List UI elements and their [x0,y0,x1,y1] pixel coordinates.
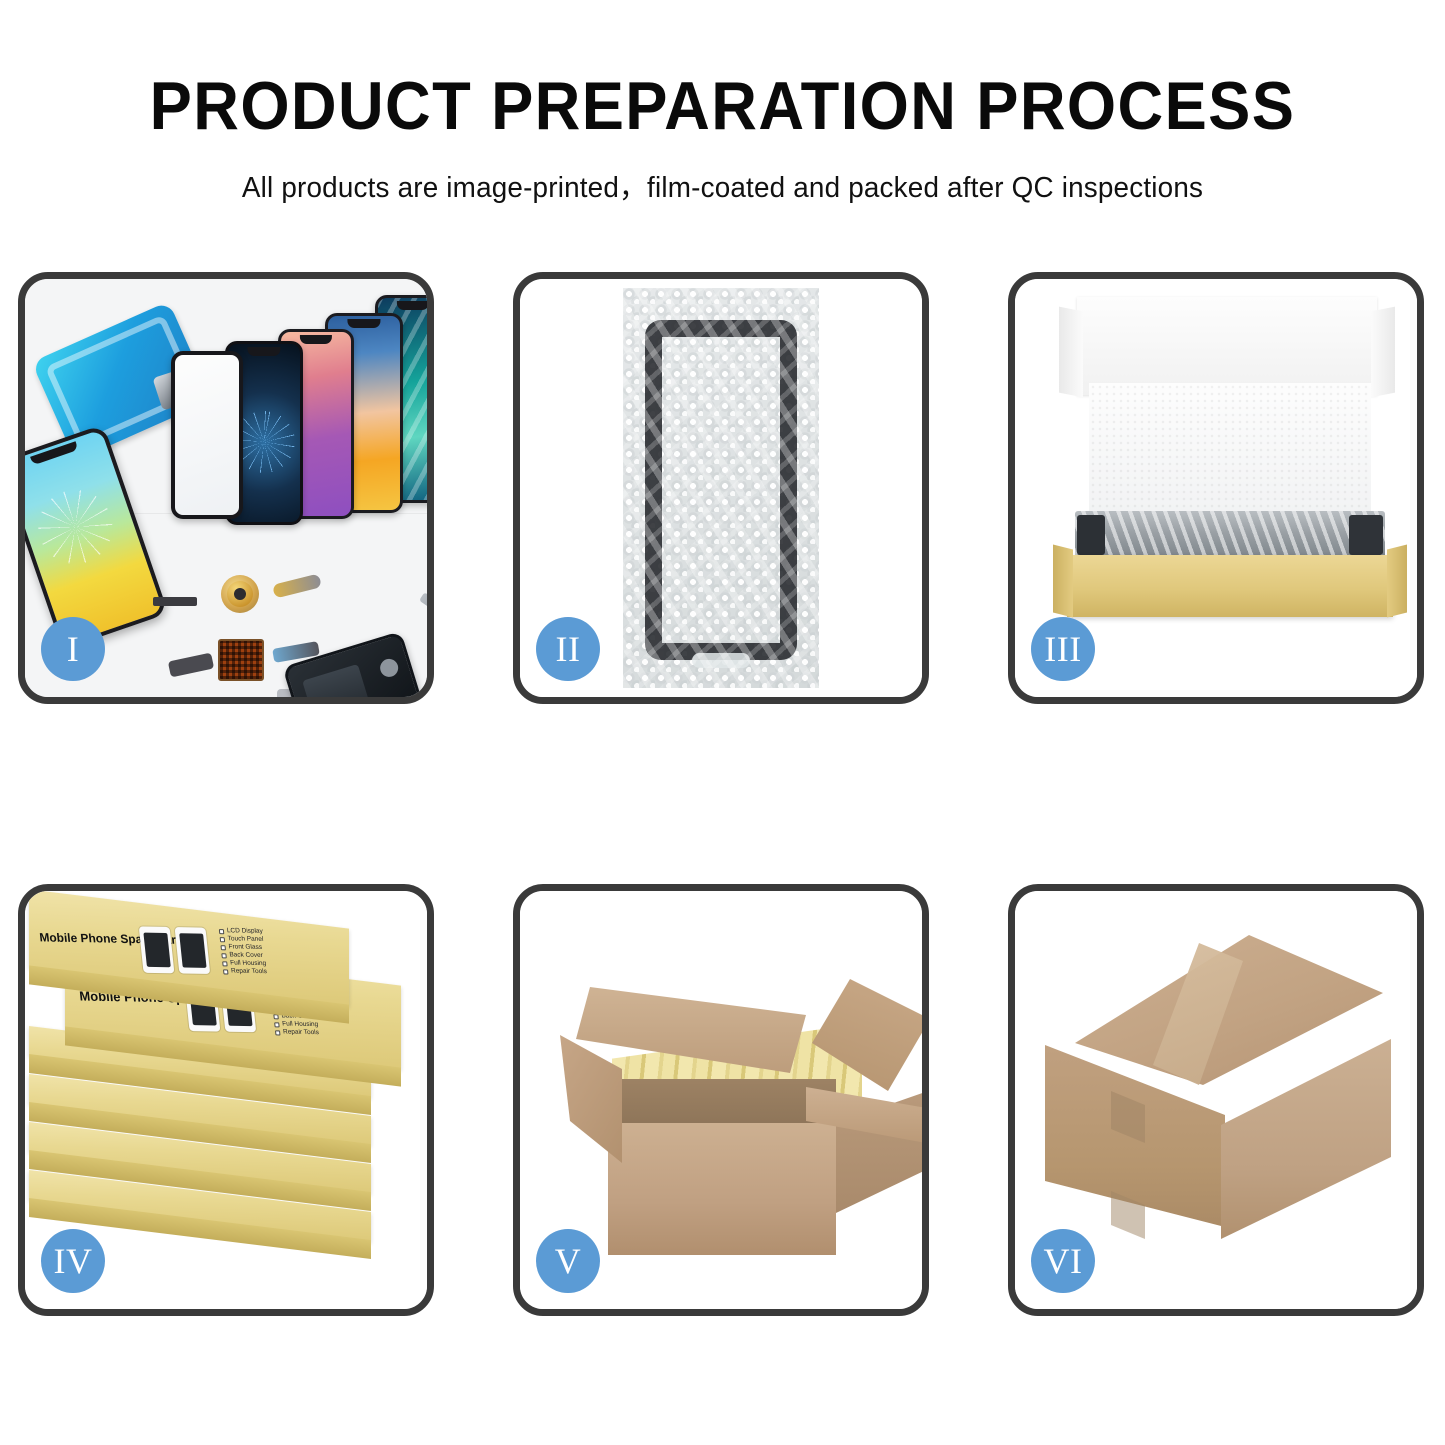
header: PRODUCT PREPARATION PROCESS All products… [0,0,1445,206]
kraft-box-base-icon [1067,555,1393,617]
phone-thumbnail-icon [139,926,175,973]
step-badge-4: IV [41,1229,105,1293]
wireless-charging-coil-icon [221,575,259,613]
page-subtitle: All products are image-printed，film-coat… [29,164,1416,206]
box-lid-icon [1077,297,1377,395]
checklist-row: Repair Tools [223,967,268,976]
step-panel-1[interactable]: I [18,272,434,704]
retail-box-thumbnails [139,926,210,974]
step-badge-1: I [41,617,105,681]
retail-box-checklist: LCD Display Touch Panel Front Glass Back… [219,927,268,976]
phone-notch-icon [347,319,380,328]
ic-chip-icon [218,639,264,681]
bubble-wrap-icon [623,288,819,688]
carton-inner-wall-icon [608,1079,836,1129]
step-badge-5: V [536,1229,600,1293]
wrapped-screen-icon [1075,511,1385,559]
front-glass-icon [171,351,243,519]
phone-notch-icon [300,335,332,344]
phone-notch-icon [397,301,427,310]
step-panel-2[interactable]: II [513,272,929,704]
infographic-page: PRODUCT PREPARATION PROCESS All products… [0,0,1445,1445]
step-badge-3: III [1031,617,1095,681]
step-panel-6[interactable]: VI [1008,884,1424,1316]
earpiece-mesh-icon [153,597,197,606]
step-panel-4[interactable]: Mobile Phone Spare Parts LCD Display Tou… [18,884,434,1316]
page-title: PRODUCT PREPARATION PROCESS [51,72,1395,140]
step-panel-5[interactable]: V [513,884,929,1316]
foam-padding-icon [1089,383,1371,513]
phone-frame-icon [645,320,797,660]
step-badge-2: II [536,617,600,681]
step-badge-6: VI [1031,1229,1095,1293]
phone-notch-icon [247,347,280,356]
checklist-row: Repair Tools [275,1028,320,1037]
step-panel-3[interactable]: III [1008,272,1424,704]
carton-front-face-icon [608,1123,836,1255]
phone-thumbnail-icon [175,927,211,974]
